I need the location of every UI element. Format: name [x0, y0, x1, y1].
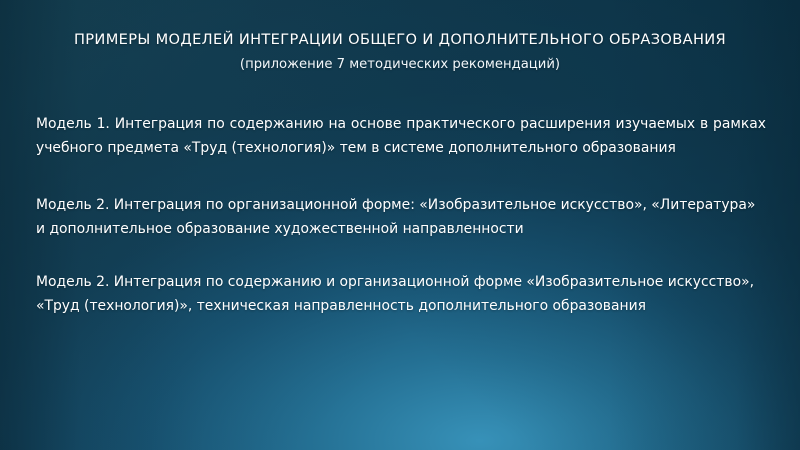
slide-body-block: Модель 1. Интеграция по содержанию на ос… [36, 113, 766, 318]
slide-subtitle: (приложение 7 методических рекомендаций) [60, 56, 740, 74]
slide-content: ПРИМЕРЫ МОДЕЛЕЙ ИНТЕГРАЦИИ ОБЩЕГО И ДОПО… [0, 0, 800, 450]
slide-title: ПРИМЕРЫ МОДЕЛЕЙ ИНТЕГРАЦИИ ОБЩЕГО И ДОПО… [60, 30, 740, 50]
paragraph-model-1: Модель 1. Интеграция по содержанию на ос… [36, 113, 766, 160]
paragraph-model-2: Модель 2. Интеграция по организационной … [36, 194, 766, 241]
presentation-slide: ПРИМЕРЫ МОДЕЛЕЙ ИНТЕГРАЦИИ ОБЩЕГО И ДОПО… [0, 0, 800, 450]
paragraph-model-3: Модель 2. Интеграция по содержанию и орг… [36, 271, 766, 318]
slide-title-block: ПРИМЕРЫ МОДЕЛЕЙ ИНТЕГРАЦИИ ОБЩЕГО И ДОПО… [60, 30, 740, 74]
